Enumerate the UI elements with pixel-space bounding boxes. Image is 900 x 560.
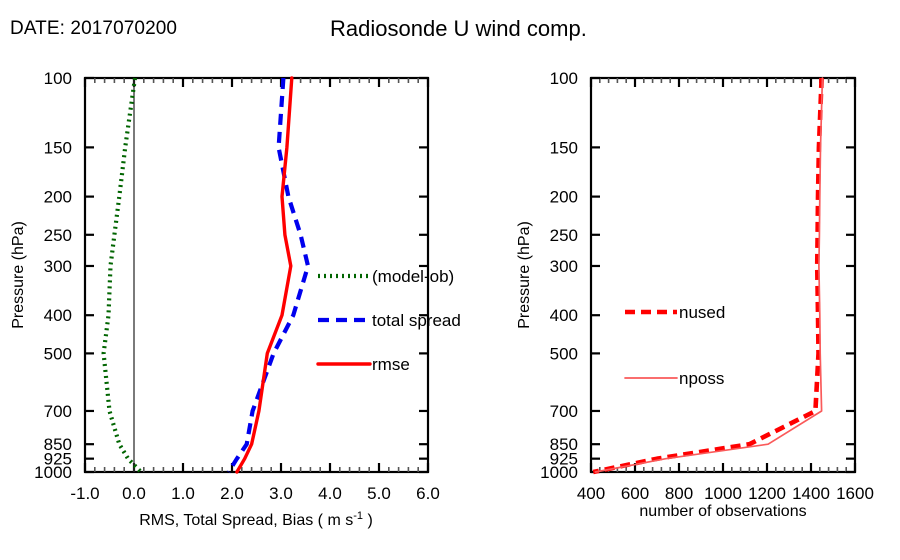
- y-axis-label: Pressure (hPa): [516, 221, 533, 329]
- x-tick-label: 1400: [792, 484, 830, 503]
- legend-label-rmse: rmse: [372, 355, 410, 374]
- y-tick-label: 150: [550, 138, 578, 157]
- x-tick-label: 1600: [836, 484, 874, 503]
- y-tick-label: 700: [44, 402, 72, 421]
- y-axis-label: Pressure (hPa): [10, 221, 27, 329]
- x-tick-label: 1000: [704, 484, 742, 503]
- x-tick-label: 4.0: [318, 484, 342, 503]
- series-nused: [593, 78, 821, 472]
- x-tick-label: 3.0: [269, 484, 293, 503]
- series-bias: [104, 78, 141, 472]
- x-tick-label: 2.0: [220, 484, 244, 503]
- y-tick-label: 100: [550, 69, 578, 88]
- x-tick-label: 1200: [748, 484, 786, 503]
- y-tick-label: 250: [44, 226, 72, 245]
- x-tick-label: 1.0: [171, 484, 195, 503]
- y-tick-label: 1000: [34, 463, 72, 482]
- statistics-panel: -1.00.01.02.03.04.05.06.0100150200250300…: [10, 69, 461, 529]
- y-tick-label: 150: [44, 138, 72, 157]
- legend-label-total_spread: total spread: [372, 311, 461, 330]
- series-nposs: [595, 78, 822, 472]
- x-tick-label: 400: [577, 484, 605, 503]
- y-tick-label: 500: [44, 344, 72, 363]
- x-tick-label: -1.0: [70, 484, 99, 503]
- y-tick-label: 200: [44, 188, 72, 207]
- y-tick-label: 300: [44, 257, 72, 276]
- x-axis-label: number of observations: [639, 503, 806, 520]
- y-tick-label: 400: [44, 306, 72, 325]
- series-rmse: [237, 78, 292, 472]
- x-tick-label: 6.0: [416, 484, 440, 503]
- y-tick-label: 500: [550, 344, 578, 363]
- y-tick-label: 300: [550, 257, 578, 276]
- x-axis-label: RMS, Total Spread, Bias ( m s-1 ): [139, 510, 373, 529]
- y-tick-label: 100: [44, 69, 72, 88]
- legend-label-nused: nused: [679, 303, 725, 322]
- x-tick-label: 5.0: [367, 484, 391, 503]
- legend-label-bias: (model-ob): [372, 267, 454, 286]
- y-tick-label: 200: [550, 188, 578, 207]
- y-tick-label: 400: [550, 306, 578, 325]
- y-tick-label: 700: [550, 402, 578, 421]
- chart-canvas: -1.00.01.02.03.04.05.06.0100150200250300…: [0, 0, 900, 560]
- x-tick-label: 600: [621, 484, 649, 503]
- x-tick-label: 0.0: [122, 484, 146, 503]
- y-tick-label: 1000: [540, 463, 578, 482]
- counts-panel: 4006008001000120014001600100150200250300…: [516, 69, 874, 520]
- x-tick-label: 800: [665, 484, 693, 503]
- y-tick-label: 250: [550, 226, 578, 245]
- legend-label-nposs: nposs: [679, 369, 724, 388]
- series-total_spread: [229, 78, 308, 472]
